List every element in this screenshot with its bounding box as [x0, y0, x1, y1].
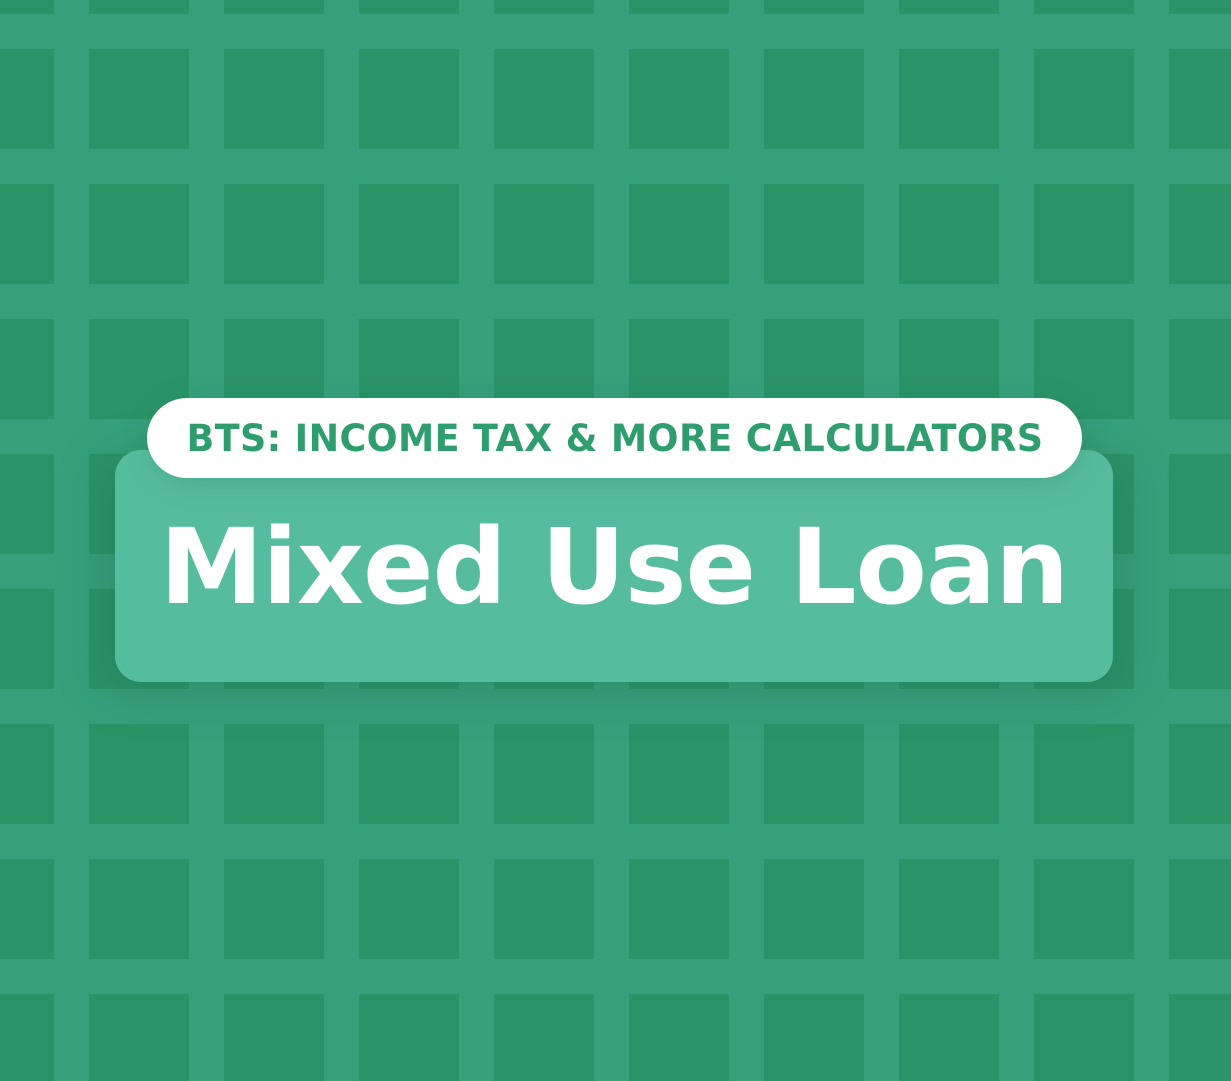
pattern-square	[1169, 49, 1231, 149]
pattern-square	[1169, 0, 1231, 14]
pattern-square	[224, 859, 324, 959]
pattern-square	[359, 184, 459, 284]
pattern-square	[0, 724, 54, 824]
pattern-square	[224, 994, 324, 1081]
pattern-square	[359, 859, 459, 959]
pattern-square	[899, 994, 999, 1081]
pattern-square	[89, 0, 189, 14]
pattern-square	[494, 0, 594, 14]
pattern-square	[764, 0, 864, 14]
pattern-square	[359, 994, 459, 1081]
pattern-square	[899, 49, 999, 149]
pattern-square	[224, 0, 324, 14]
pattern-square	[89, 994, 189, 1081]
pattern-square	[1034, 724, 1134, 824]
pattern-square	[764, 184, 864, 284]
pattern-square	[224, 184, 324, 284]
pattern-square	[89, 184, 189, 284]
category-badge-label: BTS: INCOME TAX & MORE CALCULATORS	[186, 420, 1043, 457]
pattern-square	[629, 184, 729, 284]
pattern-square	[1169, 454, 1231, 554]
pattern-square	[629, 859, 729, 959]
pattern-square	[0, 454, 54, 554]
page-title: Mixed Use Loan	[115, 505, 1113, 629]
pattern-square	[899, 184, 999, 284]
pattern-square	[1034, 859, 1134, 959]
pattern-square	[1169, 859, 1231, 959]
pattern-square	[1169, 724, 1231, 824]
pattern-square	[359, 49, 459, 149]
pattern-square	[359, 724, 459, 824]
pattern-square	[89, 49, 189, 149]
pattern-square	[764, 859, 864, 959]
pattern-square	[0, 319, 54, 419]
pattern-square	[1034, 49, 1134, 149]
pattern-square	[494, 859, 594, 959]
pattern-square	[629, 724, 729, 824]
pattern-square	[0, 0, 54, 14]
pattern-square	[1034, 184, 1134, 284]
pattern-square	[629, 994, 729, 1081]
pattern-square	[1169, 319, 1231, 419]
pattern-square	[764, 994, 864, 1081]
pattern-square	[629, 49, 729, 149]
pattern-square	[1169, 589, 1231, 689]
pattern-square	[1169, 994, 1231, 1081]
pattern-square	[0, 859, 54, 959]
pattern-square	[0, 589, 54, 689]
pattern-square	[1034, 0, 1134, 14]
pattern-square	[0, 49, 54, 149]
pattern-square	[224, 724, 324, 824]
category-badge: BTS: INCOME TAX & MORE CALCULATORS	[147, 398, 1082, 478]
page-canvas: BTS: INCOME TAX & MORE CALCULATORS Mixed…	[0, 0, 1231, 1081]
pattern-square	[1169, 184, 1231, 284]
pattern-square	[629, 0, 729, 14]
pattern-square	[359, 0, 459, 14]
pattern-square	[764, 724, 864, 824]
pattern-square	[494, 184, 594, 284]
pattern-square	[0, 184, 54, 284]
pattern-square	[89, 724, 189, 824]
pattern-square	[494, 49, 594, 149]
pattern-square	[899, 724, 999, 824]
pattern-square	[224, 49, 324, 149]
pattern-square	[89, 859, 189, 959]
pattern-square	[899, 859, 999, 959]
pattern-square	[1034, 994, 1134, 1081]
pattern-square	[764, 49, 864, 149]
pattern-square	[0, 994, 54, 1081]
pattern-square	[494, 724, 594, 824]
pattern-square	[494, 994, 594, 1081]
pattern-square	[899, 0, 999, 14]
